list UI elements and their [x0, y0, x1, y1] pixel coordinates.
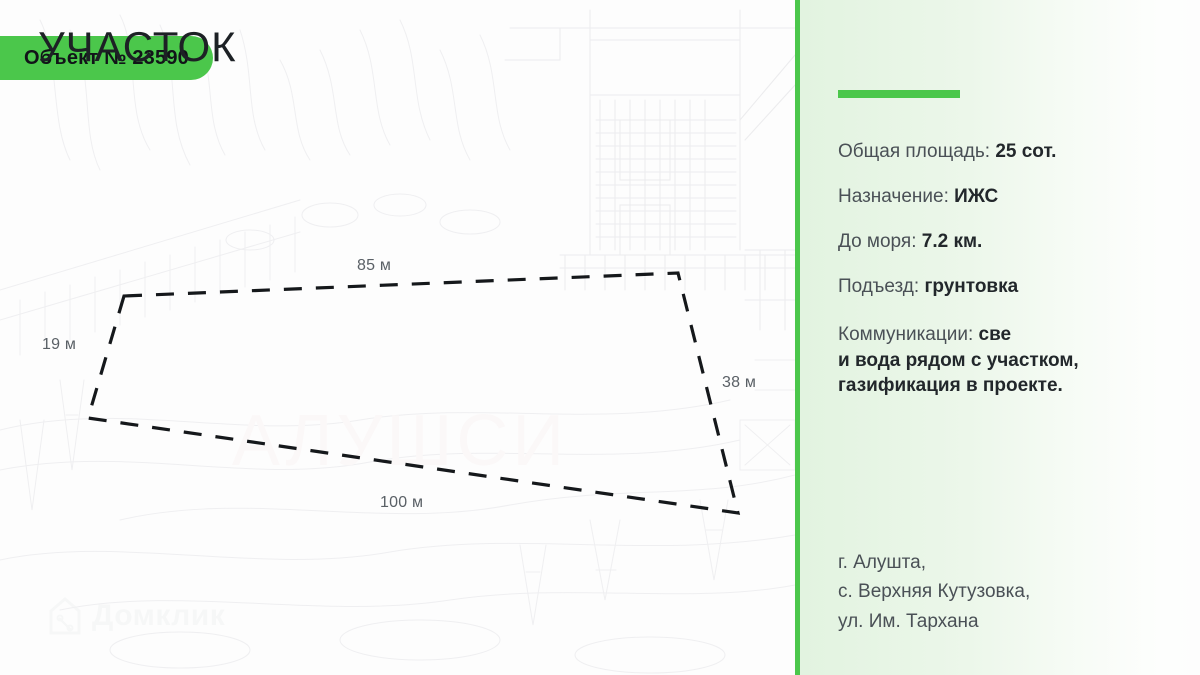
- address-line-street: ул. Им. Тархана: [838, 607, 1030, 636]
- spec-value-communications-line3: газификация в проекте.: [838, 375, 1063, 396]
- address-line-city: г. Алушта,: [838, 548, 1030, 577]
- spec-label-purpose: Назначение:: [838, 186, 949, 207]
- listing-card: АЛУШСИ 85 м 19 м 38 м 100 м Объект № 235…: [0, 0, 1200, 675]
- spec-row-sea-distance: До моря: 7.2 км.: [838, 232, 1188, 251]
- dimension-label-left: 19 м: [42, 336, 76, 354]
- spec-value-sea-distance: 7.2 км.: [922, 231, 983, 252]
- title-accent-bar: [838, 90, 960, 98]
- plot-boundary: [0, 0, 795, 675]
- page-title: УЧАСТОК: [38, 26, 237, 68]
- house-percent-icon: [48, 596, 82, 636]
- spec-row-purpose: Назначение: ИЖС: [838, 187, 1188, 206]
- spec-label-area: Общая площадь:: [838, 141, 990, 162]
- watermark-label: Домклик: [92, 599, 225, 633]
- plot-map-area: АЛУШСИ 85 м 19 м 38 м 100 м Объект № 235…: [0, 0, 795, 675]
- specifications-list: Общая площадь: 25 сот. Назначение: ИЖС Д…: [838, 142, 1188, 399]
- spec-value-communications-line1: све: [979, 324, 1012, 345]
- domclick-watermark: Домклик: [48, 596, 225, 636]
- address-block: г. Алушта, с. Верхняя Кутузовка, ул. Им.…: [838, 548, 1030, 636]
- spec-value-access: грунтовка: [924, 276, 1018, 297]
- dimension-label-bottom: 100 м: [380, 494, 423, 512]
- spec-label-communications: Коммуникации:: [838, 324, 973, 345]
- spec-row-area: Общая площадь: 25 сот.: [838, 142, 1188, 161]
- dimension-label-top: 85 м: [357, 257, 391, 275]
- address-line-village: с. Верхняя Кутузовка,: [838, 577, 1030, 606]
- spec-row-communications: Коммуникации: све и вода рядом с участко…: [838, 322, 1188, 399]
- spec-value-area: 25 сот.: [995, 141, 1056, 162]
- spec-value-communications-line2: и вода рядом с участком,: [838, 350, 1079, 371]
- dimension-label-right: 38 м: [722, 374, 756, 392]
- spec-label-access: Подъезд:: [838, 276, 919, 297]
- spec-row-access: Подъезд: грунтовка: [838, 277, 1188, 296]
- spec-value-purpose: ИЖС: [954, 186, 998, 207]
- spec-label-sea-distance: До моря:: [838, 231, 916, 252]
